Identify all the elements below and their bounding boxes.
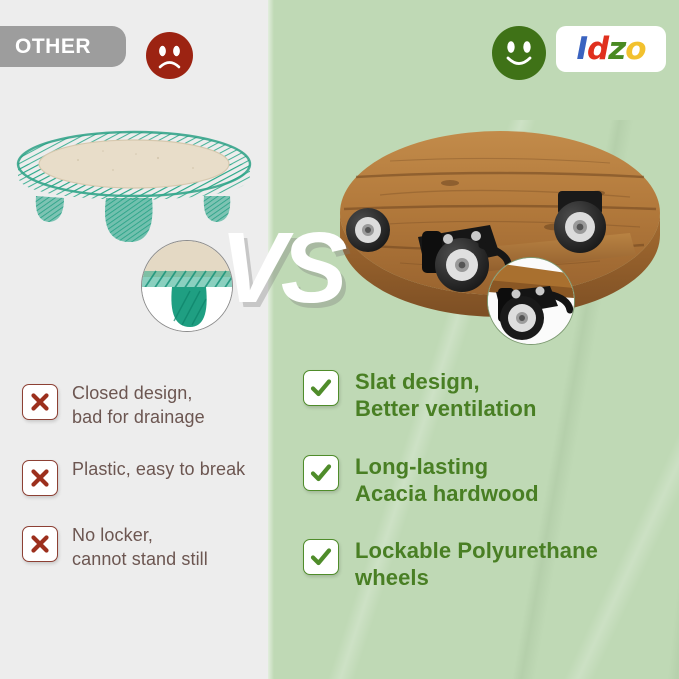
other-brand-badge: OTHER (0, 26, 126, 67)
list-item: Slat design, Better ventilation (303, 368, 679, 423)
list-item-label: Lockable Polyurethane wheels (355, 537, 598, 592)
x-mark-icon (22, 460, 58, 496)
list-item-label: No locker, cannot stand still (72, 524, 208, 572)
check-mark-icon (303, 370, 339, 406)
list-item-label: Closed design, bad for drainage (72, 382, 205, 430)
logo-letter-z: z (608, 31, 625, 67)
check-mark-icon (303, 455, 339, 491)
list-item: Plastic, easy to break (22, 458, 268, 496)
list-item-label: Plastic, easy to break (72, 458, 245, 482)
list-item: Long-lasting Acacia hardwood (303, 453, 679, 508)
list-item-label: Slat design, Better ventilation (355, 368, 537, 423)
brand-logo-text: Idzo (576, 34, 645, 65)
list-item: No locker, cannot stand still (22, 524, 268, 572)
other-badge-label: OTHER (0, 35, 91, 59)
comparison-infographic: OTHER (0, 0, 679, 679)
sad-face-icon (146, 32, 193, 79)
lockable-caster-wheel-closeup-inset (487, 257, 575, 345)
logo-letter-i: I (576, 31, 587, 67)
left-feature-list: Closed design, bad for drainage Plastic,… (22, 382, 268, 600)
list-item: Lockable Polyurethane wheels (303, 537, 679, 592)
x-mark-icon (22, 384, 58, 420)
list-item: Closed design, bad for drainage (22, 382, 268, 430)
happy-face-icon (492, 26, 546, 80)
check-mark-icon (303, 539, 339, 575)
versus-label: VS (220, 218, 341, 318)
right-feature-list: Slat design, Better ventilation Long-las… (303, 368, 679, 622)
x-mark-icon (22, 526, 58, 562)
logo-letter-o: o (625, 31, 645, 67)
brand-logo: Idzo (556, 26, 666, 72)
list-item-label: Long-lasting Acacia hardwood (355, 453, 539, 508)
logo-letter-d: d (587, 31, 608, 67)
